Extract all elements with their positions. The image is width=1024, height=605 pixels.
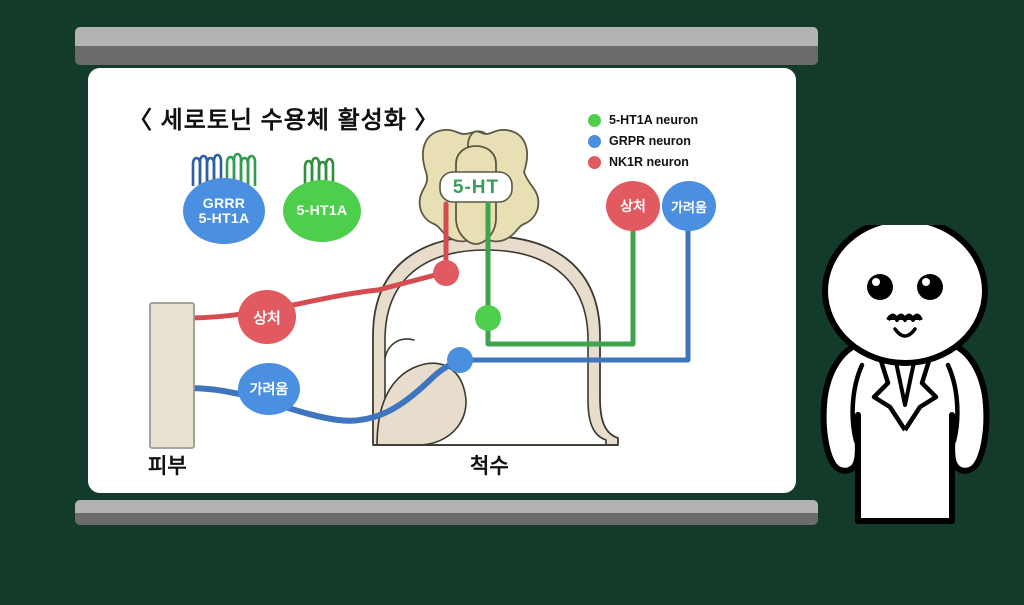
nk1r-synapse-node	[433, 260, 459, 286]
scientist-character	[800, 225, 1010, 535]
screenshot-root: 〈 세로토닌 수용체 활성화 〉 5-HT1A neuron GRPR neur…	[0, 0, 1024, 605]
receptor-cell-5ht1a: 5-HT1A	[283, 180, 361, 242]
node-output-wound-label: 상처	[620, 196, 646, 216]
eye-left	[867, 274, 893, 300]
board-bottom-rail-light	[75, 500, 818, 513]
eye-right-highlight	[922, 278, 930, 286]
eye-left-highlight	[872, 278, 880, 286]
spinal-cord-shape	[373, 236, 618, 445]
board-top-rail	[75, 27, 818, 65]
region-label-skin: 피부	[148, 450, 187, 480]
whiteboard-surface: 〈 세로토닌 수용체 활성화 〉 5-HT1A neuron GRPR neur…	[88, 68, 796, 493]
receptor-cell-5ht1a-body: 5-HT1A	[283, 180, 361, 242]
5ht1a-synapse-node	[475, 305, 501, 331]
mustache	[888, 316, 921, 321]
node-output-itch-label: 가려움	[671, 197, 707, 216]
skin-region-shape	[150, 303, 194, 448]
node-output-itch[interactable]: 가려움	[662, 181, 716, 231]
grpr-synapse-node	[447, 347, 473, 373]
region-label-spinal-cord: 척수	[470, 450, 509, 480]
board-top-rail-light	[75, 27, 818, 46]
head	[825, 225, 985, 363]
board-bottom-rail	[75, 500, 818, 525]
node-skin-wound[interactable]: 상처	[238, 290, 296, 344]
board-bottom-rail-dark	[75, 513, 818, 526]
node-output-wound[interactable]: 상처	[606, 181, 660, 231]
receptor-cell-grpr-label: GRRR 5-HT1A	[199, 196, 250, 226]
neural-pathway-diagram	[88, 68, 796, 493]
node-skin-wound-label: 상처	[253, 307, 281, 328]
eye-right	[917, 274, 943, 300]
receptor-cell-5ht1a-label: 5-HT1A	[297, 203, 348, 218]
node-skin-itch-label: 가려움	[250, 379, 289, 399]
board-top-rail-dark	[75, 46, 818, 65]
node-skin-itch[interactable]: 가려움	[238, 363, 300, 415]
brain-label: 5-HT	[440, 174, 512, 202]
receptor-cell-grpr-body: GRRR 5-HT1A	[183, 178, 265, 244]
receptor-cell-grpr: GRRR 5-HT1A	[183, 178, 265, 244]
